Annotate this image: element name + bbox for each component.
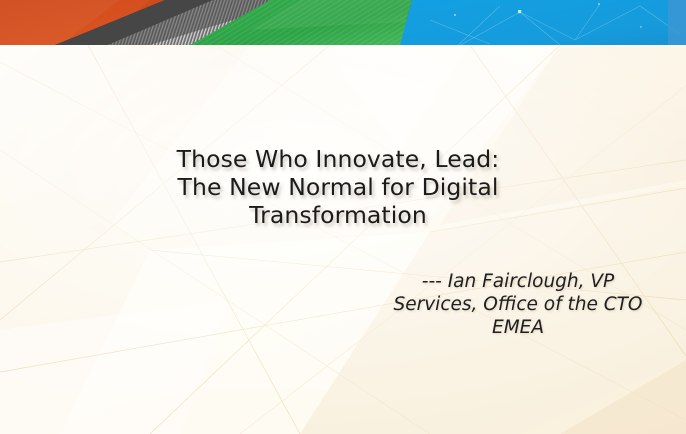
- title-line-1: Those Who Innovate, Lead:: [0, 145, 676, 173]
- title-line-2: The New Normal for Digital: [0, 173, 676, 201]
- attribution-line-2: Services, Office of the CTO: [380, 293, 656, 316]
- banner-graphic: [0, 0, 686, 45]
- quote-attribution: --- Ian Fairclough, VP Services, Office …: [380, 270, 656, 339]
- attribution-line-1: --- Ian Fairclough, VP: [380, 270, 656, 293]
- slide-title: Those Who Innovate, Lead: The New Normal…: [0, 145, 686, 229]
- attribution-line-3: EMEA: [380, 316, 656, 339]
- title-line-3: Transformation: [0, 201, 676, 229]
- title-slide: Those Who Innovate, Lead: The New Normal…: [0, 0, 686, 434]
- decorative-color-banner: [0, 0, 686, 45]
